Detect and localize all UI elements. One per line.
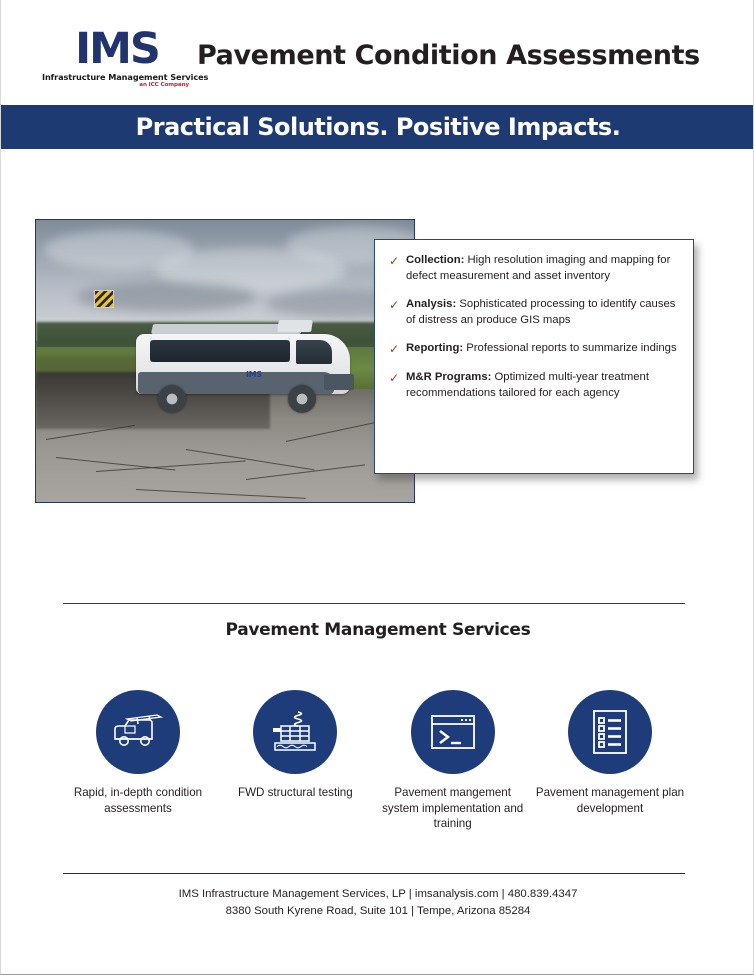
tagline-banner: Practical Solutions. Positive Impacts. xyxy=(1,105,754,149)
bullet-text: M&R Programs: Optimized multi-year treat… xyxy=(406,370,677,401)
checkmark-icon: ✓ xyxy=(389,341,406,357)
bullet-text: Reporting: Professional reports to summa… xyxy=(406,341,677,357)
survey-van-icon xyxy=(96,690,180,774)
banner-text: Practical Solutions. Positive Impacts. xyxy=(136,113,621,141)
van-windows xyxy=(150,340,290,362)
fwd-equipment-icon xyxy=(253,690,337,774)
hero-photo: IMS xyxy=(35,219,415,503)
services-callout-panel: ✓ Collection: High resolution imaging an… xyxy=(374,239,694,474)
logo-tagline: Infrastructure Management Services xyxy=(42,72,192,82)
survey-van: IMS xyxy=(128,312,358,417)
bullet-text: Analysis: Sophisticated processing to id… xyxy=(406,297,677,328)
bullet-item: ✓ Reporting: Professional reports to sum… xyxy=(389,341,677,357)
logo-subtagline: an ICC Company xyxy=(42,82,192,89)
services-section-title: Pavement Management Services xyxy=(1,620,754,640)
checklist-document-icon xyxy=(568,690,652,774)
bullet-list: ✓ Collection: High resolution imaging an… xyxy=(375,240,693,401)
van-bumper xyxy=(324,374,354,390)
service-caption: Rapid, in-depth condition assessments xyxy=(63,785,213,816)
checkmark-icon: ✓ xyxy=(389,370,406,386)
logo-wordmark: IMS xyxy=(42,27,192,71)
footer-line-address: 8380 South Kyrene Road, Suite 101 | Temp… xyxy=(1,903,754,920)
van-sensor-array xyxy=(277,320,313,332)
terminal-window-icon xyxy=(411,690,495,774)
bullet-item: ✓ M&R Programs: Optimized multi-year tre… xyxy=(389,370,677,401)
bullet-item: ✓ Collection: High resolution imaging an… xyxy=(389,253,677,284)
checkmark-icon: ✓ xyxy=(389,253,406,269)
checkmark-icon: ✓ xyxy=(389,297,406,313)
page-footer: IMS Infrastructure Management Services, … xyxy=(1,886,754,920)
flyer-page: IMS Infrastructure Management Services a… xyxy=(0,0,754,975)
bullet-item: ✓ Analysis: Sophisticated processing to … xyxy=(389,297,677,328)
footer-line-company: IMS Infrastructure Management Services, … xyxy=(1,886,754,903)
bullet-label: Analysis: xyxy=(406,298,456,310)
van-logo-badge: IMS xyxy=(246,370,262,379)
bullet-label: Reporting: xyxy=(406,342,463,354)
section-divider-bottom xyxy=(63,873,685,874)
bullet-text: Collection: High resolution imaging and … xyxy=(406,253,677,284)
bullet-body: Professional reports to summarize inding… xyxy=(463,342,676,354)
service-caption: FWD structural testing xyxy=(220,785,370,801)
van-windshield xyxy=(296,340,332,364)
service-caption: Pavement mangement system implementation… xyxy=(378,785,528,832)
service-item-fwd-testing[interactable]: FWD structural testing xyxy=(220,690,370,832)
page-title: Pavement Condition Assessments xyxy=(197,40,700,71)
photo-hazard-sign xyxy=(94,290,114,308)
service-caption: Pavement management plan development xyxy=(535,785,685,816)
service-item-pms-implementation[interactable]: Pavement mangement system implementation… xyxy=(378,690,528,832)
van-wheel xyxy=(288,385,316,413)
page-header: IMS Infrastructure Management Services a… xyxy=(1,0,754,105)
section-divider-top xyxy=(63,603,685,604)
bullet-label: M&R Programs: xyxy=(406,371,491,383)
bullet-label: Collection: xyxy=(406,254,464,266)
van-wheel xyxy=(158,385,186,413)
ims-logo: IMS Infrastructure Management Services a… xyxy=(42,27,192,89)
service-item-condition-assessments[interactable]: Rapid, in-depth condition assessments xyxy=(63,690,213,832)
service-item-pm-plan-development[interactable]: Pavement management plan development xyxy=(535,690,685,832)
services-grid: Rapid, in-depth condition assessments FW… xyxy=(63,690,685,832)
